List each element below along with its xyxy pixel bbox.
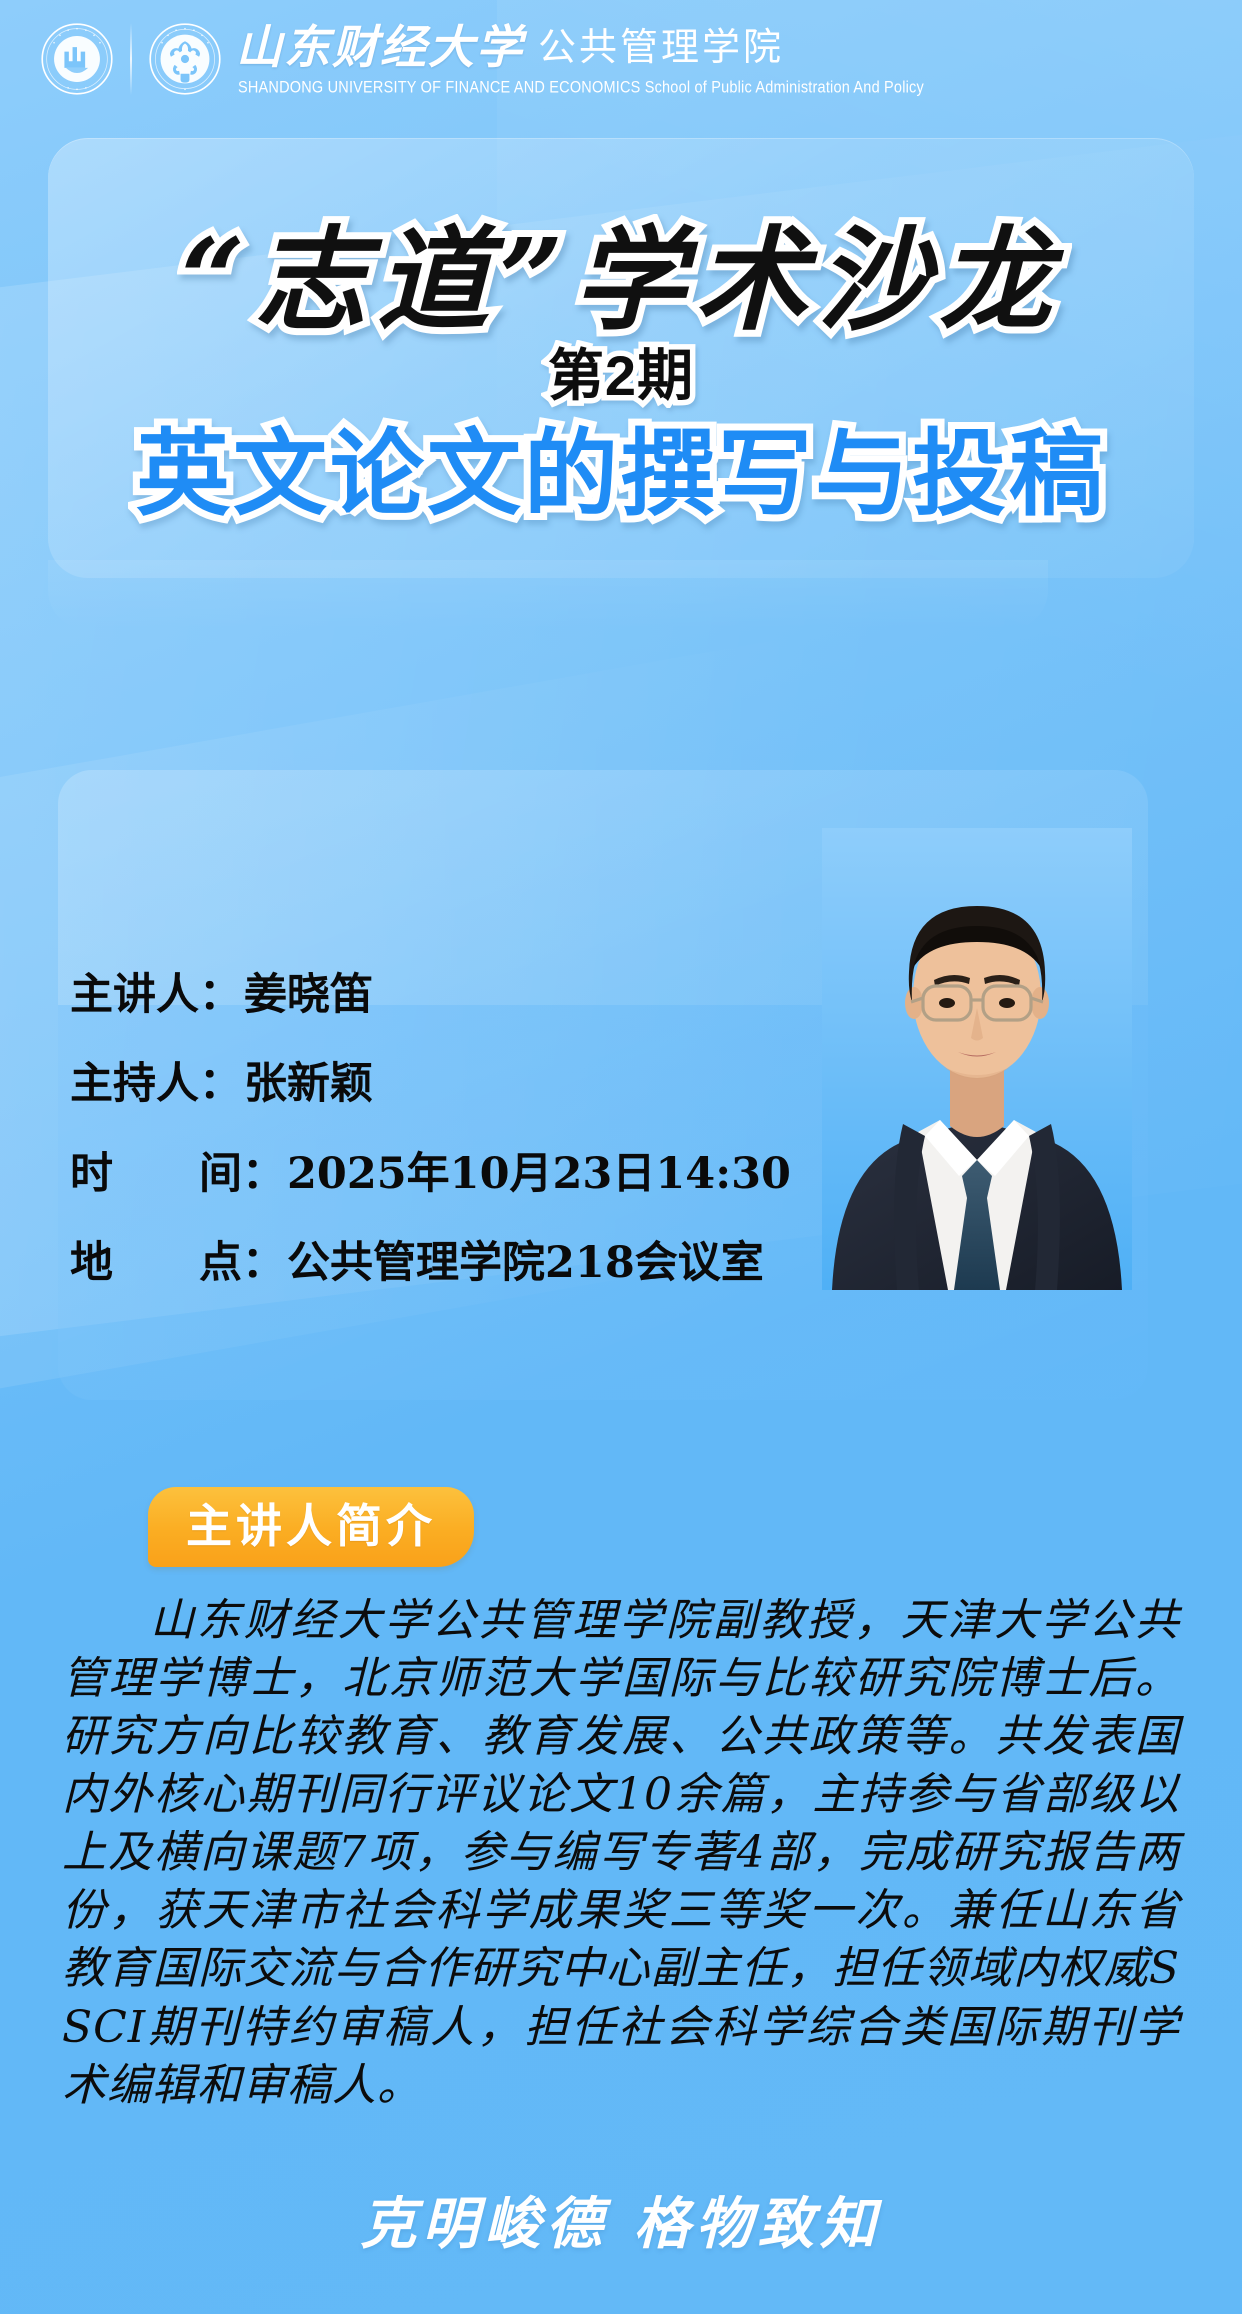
footer-motto: 克明峻德 格物致知 — [0, 2196, 1242, 2252]
university-name-cn: 山东财经大学 — [236, 24, 524, 70]
shandong-university-emblem-icon — [40, 22, 114, 96]
detail-value-location: 公共管理学院218会议室 — [287, 1240, 764, 1287]
speaker-portrait-photo — [822, 828, 1132, 1290]
series-title: “志道”学术沙龙 — [0, 222, 1242, 340]
poster-header: 山东财经大学 公共管理学院 SHANDONG UNIVERSITY OF FIN… — [0, 0, 1242, 118]
poster-root: 山东财经大学 公共管理学院 SHANDONG UNIVERSITY OF FIN… — [0, 0, 1242, 2314]
detail-label-location: 地 点： — [70, 1240, 285, 1287]
speaker-bio-text: 山东财经大学公共管理学院副教授，天津大学公共管理学博士，北京师范大学国际与比较研… — [62, 1592, 1180, 2115]
topic-title: 英文论文的撰写与投稿 — [136, 420, 1106, 528]
hero-card-lower-extension — [48, 560, 1048, 630]
event-details-list: 主讲人： 姜晓笛 主持人： 张新颖 时 间： 2025年10月23日14:30 … — [70, 972, 830, 1287]
logo-group: 山东财经大学 公共管理学院 SHANDONG UNIVERSITY OF FIN… — [40, 22, 924, 96]
wordmark: 山东财经大学 公共管理学院 SHANDONG UNIVERSITY OF FIN… — [236, 24, 924, 95]
wordmark-chinese-row: 山东财经大学 公共管理学院 — [236, 24, 924, 70]
detail-value-speaker: 姜晓笛 — [244, 972, 373, 1019]
speaker-bio-badge-label: 主讲人简介 — [186, 1500, 436, 1552]
detail-value-time: 2025年10月23日14:30 — [287, 1151, 791, 1198]
logo-divider — [130, 23, 132, 95]
speaker-bio-badge: 主讲人简介 — [148, 1487, 474, 1567]
topic-title-wrap: 英文论文的撰写与投稿 — [0, 420, 1242, 528]
issue-number: 第2期 — [548, 345, 694, 407]
detail-label-time: 时 间： — [70, 1151, 285, 1198]
issue-number-wrap: 第2期 — [0, 345, 1242, 407]
detail-label-speaker: 主讲人： — [70, 972, 242, 1019]
detail-row-location: 地 点： 公共管理学院218会议室 — [70, 1240, 830, 1287]
detail-row-speaker: 主讲人： 姜晓笛 — [70, 972, 830, 1019]
detail-row-host: 主持人： 张新颖 — [70, 1061, 830, 1108]
school-of-public-administration-emblem-icon — [148, 22, 222, 96]
detail-label-host: 主持人： — [70, 1061, 242, 1108]
detail-row-time: 时 间： 2025年10月23日14:30 — [70, 1151, 830, 1198]
school-name-cn: 公共管理学院 — [538, 29, 784, 70]
detail-value-host: 张新颖 — [244, 1061, 373, 1108]
header-english-line: SHANDONG UNIVERSITY OF FINANCE AND ECONO… — [238, 79, 924, 97]
